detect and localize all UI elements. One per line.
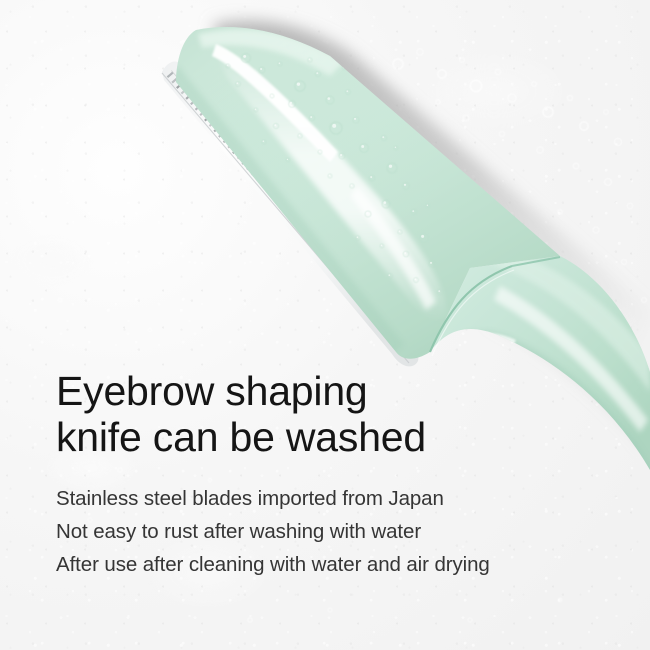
headline: Eyebrow shaping knife can be washed bbox=[56, 368, 596, 460]
feature-list: Stainless steel blades imported from Jap… bbox=[56, 482, 596, 581]
feature-item: After use after cleaning with water and … bbox=[56, 548, 596, 581]
feature-item: Not easy to rust after washing with wate… bbox=[56, 515, 596, 548]
marketing-copy: Eyebrow shaping knife can be washed Stai… bbox=[56, 368, 596, 581]
feature-item: Stainless steel blades imported from Jap… bbox=[56, 482, 596, 515]
product-image-canvas: Eyebrow shaping knife can be washed Stai… bbox=[0, 0, 650, 650]
